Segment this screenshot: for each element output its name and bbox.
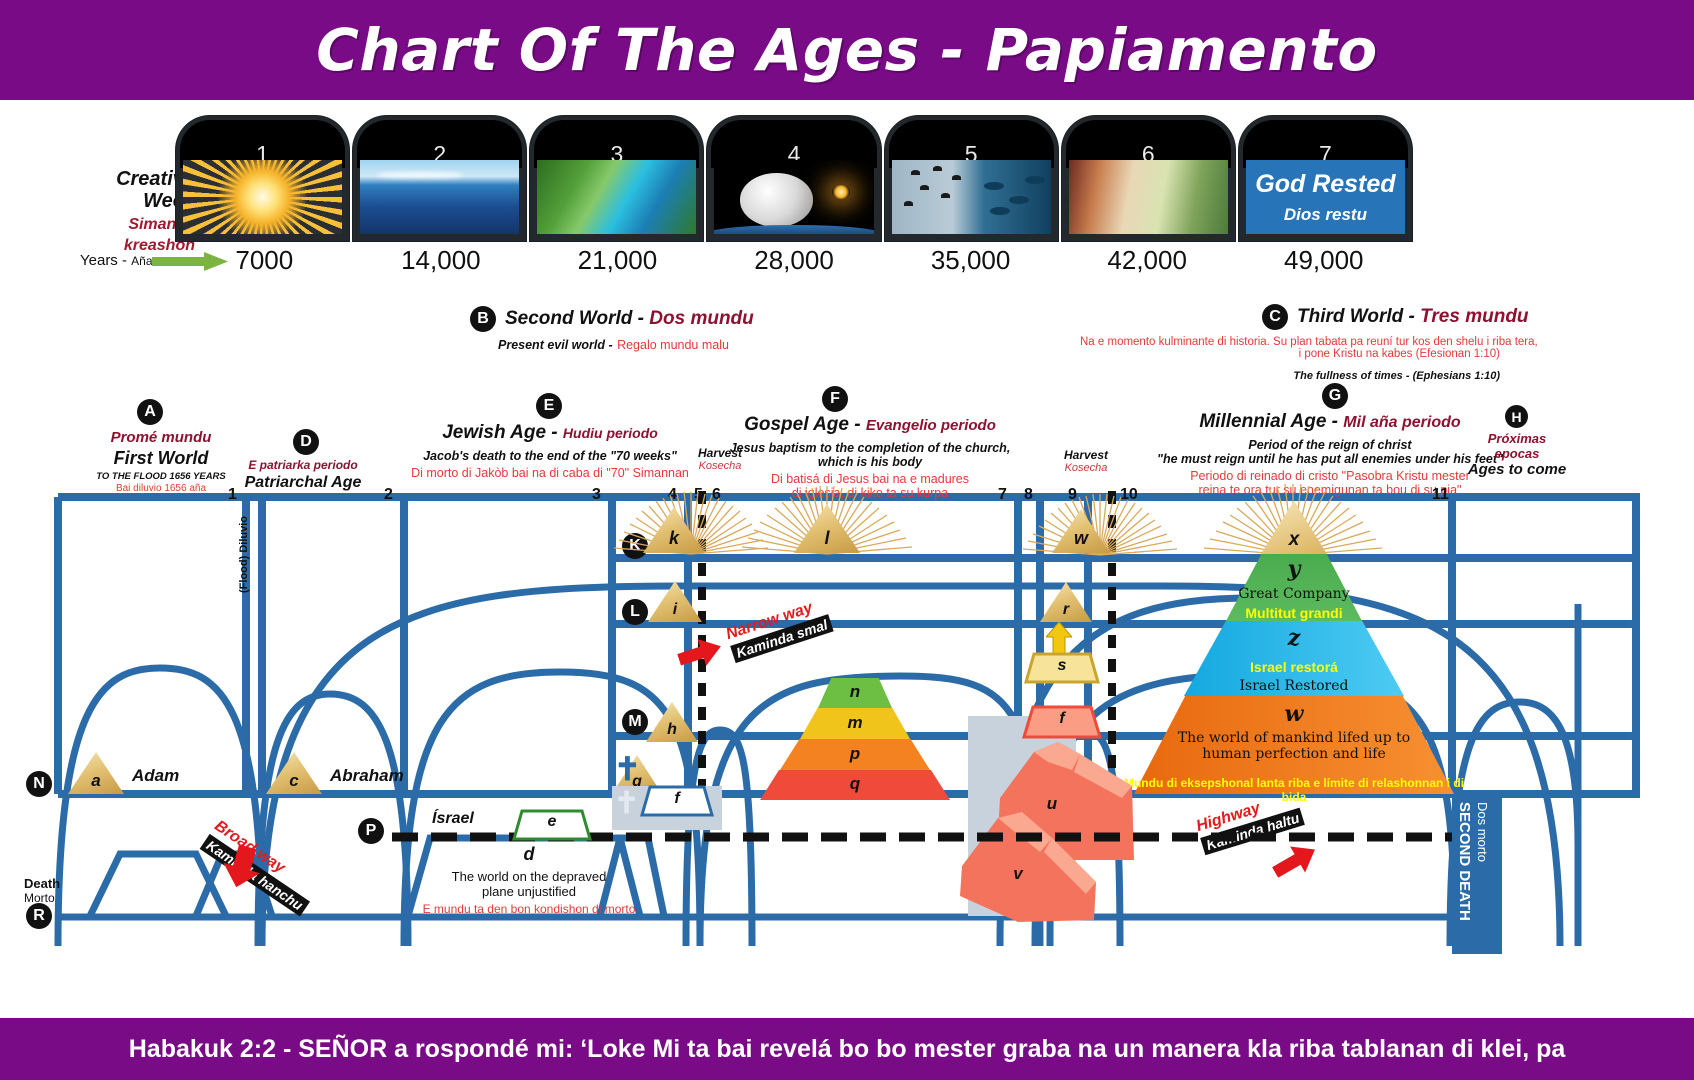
person-c-triangle: c: [266, 752, 322, 794]
harvest-en: Harvest: [686, 446, 754, 460]
cross-icon: ✝: [614, 750, 641, 788]
plane-letter: e: [510, 813, 594, 831]
death-label: Death Morto: [24, 876, 60, 905]
jewish-age-block: Jewish Age - Hudiu periodo Jacob's death…: [390, 422, 710, 480]
creative-day-7: 7 God Rested Dios restu: [1239, 116, 1412, 241]
tag-e-badge: E: [536, 393, 562, 419]
plane-letter: f: [640, 790, 714, 808]
pyramid-level-en: Great Company: [1134, 586, 1454, 602]
ages-to-come-pa-2: epocas: [1452, 446, 1582, 461]
first-world-sub-en: TO THE FLOOD 1656 YEARS: [55, 471, 267, 482]
pyramid-level-letter: z: [1134, 625, 1454, 651]
jewish-age-title: Jewish Age - Hudiu periodo: [390, 422, 710, 444]
day-5-image: [892, 160, 1051, 234]
ages-to-come-en: Ages to come: [1452, 461, 1582, 478]
day-3-image: [537, 160, 696, 234]
creative-week-strip: 1 2 3 4: [176, 116, 1412, 241]
years-label-en: Years -: [80, 252, 131, 269]
gospel-age-title: Gospel Age - Evangelio periodo: [700, 414, 1040, 436]
harvest-pa: Kosecha: [1050, 462, 1122, 474]
ages-to-come-pa-1: Próximas: [1452, 431, 1582, 446]
grid-number: 7: [998, 486, 1007, 504]
plane-f-trapezoid-left: f: [640, 784, 714, 818]
pyramid-apex-x: x: [1261, 501, 1327, 554]
creative-day-2: 2: [353, 116, 526, 241]
tag-c-badge: C: [1262, 304, 1288, 330]
pyramid-level-z-text: z Israel restorá Israel Restored: [1134, 625, 1454, 694]
year-tick: 28,000: [706, 245, 883, 279]
chart-of-the-ages-page: Chart Of The Ages - Papiamento Creative …: [0, 0, 1694, 1080]
plane-r-triangle: r: [1040, 582, 1092, 622]
patriarchal-title-pa: E patriarka periodo: [238, 458, 368, 472]
grid-number: 2: [384, 486, 393, 504]
second-death-column: SECOND DEATH Dos morto: [1452, 794, 1502, 954]
rock-v-shape: v: [956, 804, 1120, 926]
years-label-pa: Aña: [131, 254, 152, 268]
gospel-age-dash: -: [849, 414, 866, 435]
second-world-sub-en: Present evil world -: [498, 338, 613, 352]
person-a-name: Adam: [132, 766, 179, 786]
jewish-age-dash: -: [546, 422, 563, 443]
depraved-letter: d: [404, 844, 654, 865]
depraved-en-1: The world on the depraved: [404, 869, 654, 884]
gospel-age-sub-pa-1: Di batisá di Jesus bai na e madures: [700, 472, 1040, 486]
plane-letter: i: [648, 601, 702, 619]
creative-day-3: 3: [530, 116, 703, 241]
tag-g-badge: G: [1322, 383, 1348, 409]
plane-e-trapezoid: e: [510, 809, 594, 841]
day-4-image: [714, 160, 873, 234]
plane-letter: a: [68, 771, 124, 791]
harvest-pa: Kosecha: [686, 460, 754, 472]
third-world-title-pa: Tres mundu: [1420, 306, 1528, 327]
year-tick: 14,000: [353, 245, 530, 279]
pyramid-level-en-1: The world of mankind lifed up to: [1134, 730, 1454, 746]
plane-letter: h: [646, 721, 698, 739]
day-7-panel: God Rested Dios restu: [1246, 160, 1405, 234]
millennial-age-title-en: Millennial Age: [1199, 411, 1326, 432]
year-tick: 7000: [176, 245, 353, 279]
page-title: Chart Of The Ages - Papiamento: [316, 16, 1377, 84]
third-world-subtext: Na e momento kulminante di historia. Su …: [1080, 336, 1500, 382]
second-world-dash: -: [632, 308, 649, 329]
death-pa: Morto: [24, 891, 60, 905]
ages-chart: B Second World - Dos mundu Present evil …: [0, 286, 1694, 946]
millennial-pyramid: x y Great Company Multitut grandi z Isra…: [1134, 501, 1454, 794]
day-6-image: [1069, 160, 1228, 234]
creative-day-1: 1: [176, 116, 349, 241]
year-tick: 21,000: [529, 245, 706, 279]
tag-a-badge: A: [137, 399, 163, 425]
plane-letter: l: [794, 528, 860, 549]
first-world-title-pa: Promé mundu: [55, 429, 267, 446]
third-world-sub-pa-2: i pone Kristu na kabes (Efesionan 1:10): [1080, 348, 1500, 360]
tag-n-badge: N: [26, 771, 52, 797]
year-tick: 35,000: [882, 245, 1059, 279]
pyramid-level-letter: x: [1261, 529, 1327, 551]
jewish-age-title-en: Jewish Age: [442, 422, 546, 443]
tag-h-badge: H: [1505, 405, 1528, 428]
third-world-block: C Third World - Tres mundu: [1262, 304, 1529, 330]
second-world-title: Second World - Dos mundu: [505, 308, 754, 330]
plane-k-triangle: k: [643, 507, 705, 553]
god-rested-pa: Dios restu: [1284, 205, 1367, 225]
third-world-sub-pa-1: Na e momento kulminante di historia. Su …: [1080, 336, 1500, 348]
tag-f-badge: F: [822, 386, 848, 412]
small-pyramid-letter: n: [760, 682, 950, 702]
second-world-title-pa: Dos mundu: [649, 308, 754, 329]
flood-label: (Flood) Diluvio: [238, 516, 250, 676]
tag-r-badge: R: [26, 903, 52, 929]
god-rested-en: God Rested: [1255, 170, 1395, 199]
first-world-title-en: First World: [55, 448, 267, 469]
second-world-sub-pa: Regalo mundu malu: [617, 338, 729, 352]
third-world-sub-en: The fullness of times - (Ephesians 1:10): [1080, 370, 1500, 382]
gospel-age-title-en: Gospel Age: [744, 414, 849, 435]
creative-day-5: 5: [885, 116, 1058, 241]
depraved-en-2: plane unjustified: [404, 884, 654, 899]
flood-label-text: (Flood) Diluvio: [238, 516, 250, 593]
first-world-block: Promé mundu First World TO THE FLOOD 165…: [55, 429, 267, 494]
creative-day-4: 4: [707, 116, 880, 241]
day-1-image: [183, 160, 342, 234]
pyramid-level-en-2: human perfection and life: [1134, 746, 1454, 762]
year-tick-row: 7000 14,000 21,000 28,000 35,000 42,000 …: [176, 245, 1412, 279]
grid-number: 3: [592, 486, 601, 504]
plane-f-trapezoid-right: f: [1022, 704, 1102, 740]
person-a-triangle: a: [68, 752, 124, 794]
harvest-en: Harvest: [1050, 448, 1122, 462]
third-world-dash: -: [1403, 306, 1420, 327]
person-c-name: Abraham: [330, 766, 404, 786]
plane-i-triangle: i: [648, 581, 702, 622]
pyramid-level-en: Israel Restored: [1134, 678, 1454, 694]
depraved-pa: E mundu ta den bon kondishon di morto: [404, 902, 654, 916]
jewish-age-title-pa: Hudiu periodo: [563, 425, 658, 441]
millennial-age-title-pa: Mil aña periodo: [1343, 414, 1460, 431]
small-pyramid-letter: m: [760, 713, 950, 733]
harvest-label-1: Harvest Kosecha: [686, 446, 754, 472]
israel-label: Ísrael: [432, 810, 474, 828]
tag-b-badge: B: [470, 306, 496, 332]
second-death-pa: Dos morto: [1475, 802, 1490, 948]
gospel-small-pyramid: n m p q: [760, 678, 950, 800]
pyramid-level-letter: y: [1134, 556, 1454, 582]
plane-letter: k: [643, 528, 705, 549]
ages-to-come-block: Próximas epocas Ages to come: [1452, 431, 1582, 478]
plane-w-small-triangle: w: [1052, 509, 1110, 553]
plane-letter: r: [1040, 601, 1092, 619]
third-world-title-en: Third World: [1297, 306, 1403, 327]
gospel-age-title-pa: Evangelio periodo: [866, 417, 996, 434]
pyramid-level-letter: w: [1134, 701, 1454, 727]
jewish-age-sub-pa: Di morto di Jakòb bai na di caba di "70"…: [390, 466, 710, 480]
plane-l-triangle: l: [794, 504, 860, 553]
pyramid-level-y-text: y Great Company Multitut grandi: [1134, 556, 1454, 621]
tag-p-badge: P: [358, 818, 384, 844]
creative-day-6: 6: [1062, 116, 1235, 241]
second-world-title-en: Second World: [505, 308, 632, 329]
years-axis-label: Years - Aña: [80, 252, 153, 269]
plane-letter: c: [266, 771, 322, 791]
up-arrow-icon: [1046, 622, 1072, 656]
year-tick: 49,000: [1235, 245, 1412, 279]
third-world-title: Third World - Tres mundu: [1297, 306, 1529, 328]
death-en: Death: [24, 876, 60, 891]
plane-letter: v: [956, 864, 1080, 884]
plane-letter: w: [1052, 528, 1110, 549]
tag-d-badge: D: [293, 429, 319, 455]
tag-l-badge: L: [622, 599, 648, 625]
small-pyramid-letter: q: [760, 774, 950, 794]
millennial-age-dash: -: [1326, 411, 1343, 432]
plane-s-trapezoid: s: [1024, 652, 1100, 684]
millennial-age-title: Millennial Age - Mil aña periodo: [1085, 411, 1575, 433]
grid-number: 1: [228, 486, 237, 504]
second-world-block: B Second World - Dos mundu Present evil …: [470, 306, 754, 354]
pyramid-level-w-text: w The world of mankind lifed up to human…: [1134, 701, 1454, 762]
small-pyramid-letter: p: [760, 744, 950, 764]
page-title-bar: Chart Of The Ages - Papiamento: [0, 0, 1694, 100]
footer-scripture: Habakuk 2:2 - SEÑOR a rospondé mi: ‘Loke…: [129, 1035, 1566, 1064]
day-2-image: [360, 160, 519, 234]
pyramid-level-pa: Multitut grandi: [1134, 605, 1454, 621]
plane-letter: s: [1024, 657, 1100, 675]
cross-icon-grey: ✝: [614, 786, 639, 821]
plane-letter: f: [1022, 710, 1102, 728]
jewish-age-sub-en: Jacob's death to the end of the "70 week…: [390, 449, 710, 463]
pyramid-level-pa: Israel restorá: [1134, 659, 1454, 675]
second-death-en: SECOND DEATH: [1456, 802, 1473, 948]
year-tick: 42,000: [1059, 245, 1236, 279]
plane-h-triangle: h: [646, 702, 698, 742]
tag-m-badge: M: [622, 709, 648, 735]
depraved-block: d The world on the depraved plane unjust…: [404, 844, 654, 916]
harvest-label-2: Harvest Kosecha: [1050, 448, 1122, 474]
footer-bar: Habakuk 2:2 - SEÑOR a rospondé mi: ‘Loke…: [0, 1018, 1694, 1080]
